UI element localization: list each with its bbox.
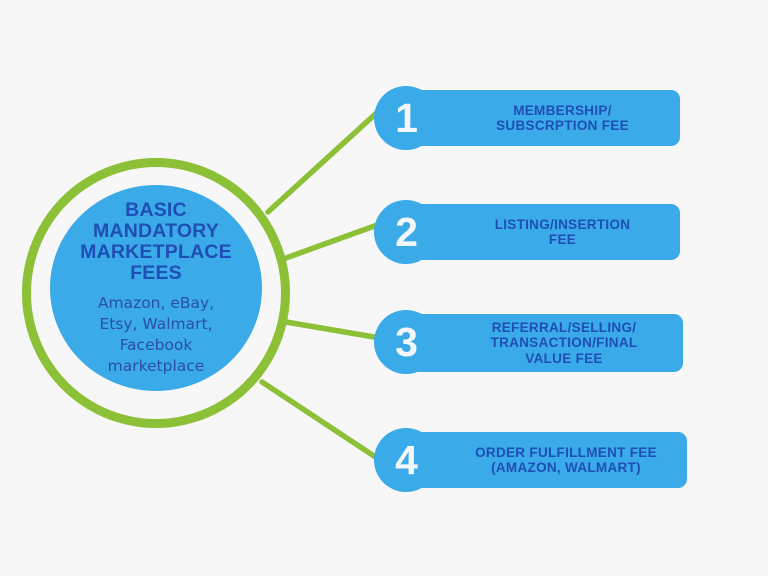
fee-pill-2[interactable]: LISTING/INSERTION FEE xyxy=(403,204,680,260)
connector-line-3 xyxy=(286,322,380,338)
fee-label-1: MEMBERSHIP/ SUBSCRPTION FEE xyxy=(444,103,639,134)
hub-subtitle: Amazon, eBay, Etsy, Walmart, Facebook ma… xyxy=(98,293,214,377)
fee-pill-1[interactable]: MEMBERSHIP/ SUBSCRPTION FEE xyxy=(403,90,680,146)
fee-label-2: LISTING/INSERTION FEE xyxy=(443,217,641,248)
hub-circle: BASIC MANDATORY MARKETPLACE FEES Amazon,… xyxy=(50,185,262,391)
connector-line-2 xyxy=(286,224,380,258)
connector-line-1 xyxy=(268,108,382,212)
infographic-canvas: BASIC MANDATORY MARKETPLACE FEES Amazon,… xyxy=(0,0,768,576)
fee-label-4: ORDER FULFILLMENT FEE (AMAZON, WALMART) xyxy=(423,445,667,476)
fee-pill-4[interactable]: ORDER FULFILLMENT FEE (AMAZON, WALMART) xyxy=(403,432,687,488)
fee-number-badge-2: 2 xyxy=(374,200,438,264)
fee-label-3: REFERRAL/SELLING/ TRANSACTION/FINAL VALU… xyxy=(439,320,648,367)
fee-number-badge-4: 4 xyxy=(374,428,438,492)
fee-number-badge-3: 3 xyxy=(374,310,438,374)
hub-title: BASIC MANDATORY MARKETPLACE FEES xyxy=(80,200,232,284)
fee-number-badge-1: 1 xyxy=(374,86,438,150)
connector-line-4 xyxy=(262,382,386,464)
fee-pill-3[interactable]: REFERRAL/SELLING/ TRANSACTION/FINAL VALU… xyxy=(403,314,683,372)
